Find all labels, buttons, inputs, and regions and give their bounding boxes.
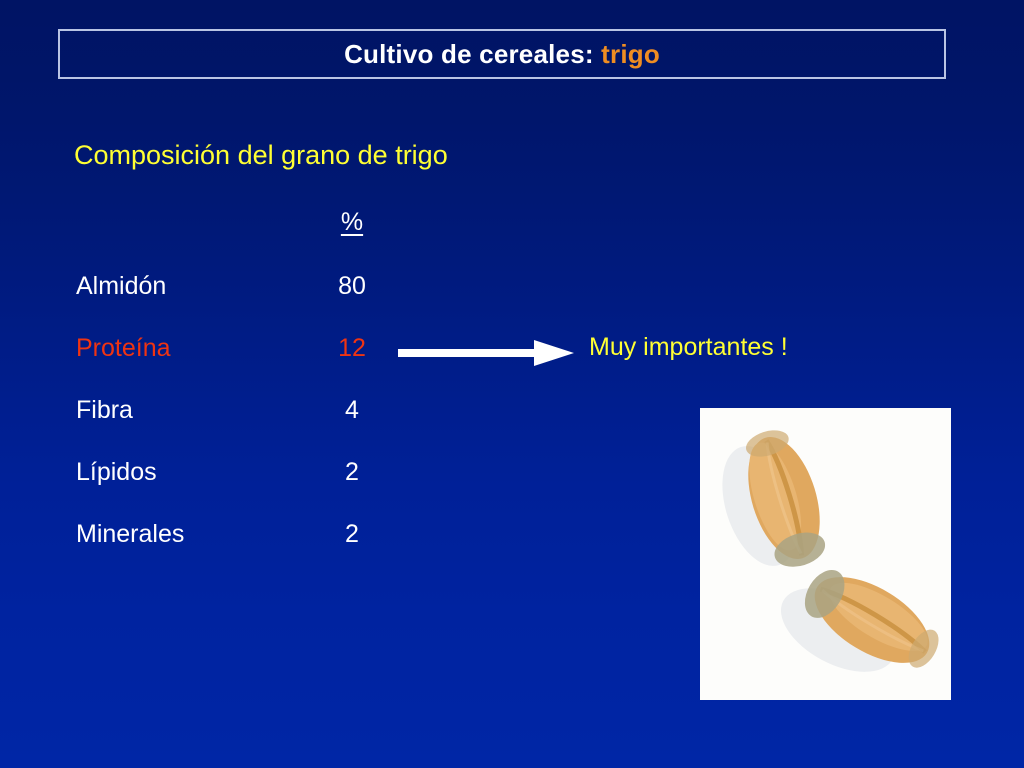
table-row: Lípidos 2 [74,458,404,520]
table-cell-value: 4 [322,396,382,425]
composition-table: % Almidón 80 Proteína 12 Fibra 4 Lípidos… [74,208,404,582]
table-cell-label: Minerales [76,520,184,549]
wheat-grains-photo [700,408,951,700]
table-cell-value: 2 [322,458,382,487]
section-subtitle: Composición del grano de trigo [74,140,448,171]
table-cell-label: Lípidos [76,458,157,487]
table-row: Fibra 4 [74,396,404,458]
slide-canvas: Cultivo de cereales: trigo Composición d… [0,0,1024,768]
table-cell-label: Proteína [76,334,171,363]
table-column-header-percent: % [322,208,382,237]
callout-label: Muy importantes ! [589,333,788,362]
slide-title-box: Cultivo de cereales: trigo [58,29,946,79]
page-title-accent: trigo [601,39,660,69]
table-row: Almidón 80 [74,272,404,334]
table-cell-value: 80 [322,272,382,301]
page-title-main: Cultivo de cereales: [344,39,594,69]
table-cell-label: Fibra [76,396,133,425]
table-cell-value: 12 [322,334,382,363]
table-row-header: % [74,208,404,272]
table-cell-value: 2 [322,520,382,549]
table-row: Proteína 12 [74,334,404,396]
table-cell-label: Almidón [76,272,166,301]
page-title: Cultivo de cereales: trigo [344,39,660,70]
table-row: Minerales 2 [74,520,404,582]
arrow-right-icon [398,340,574,366]
